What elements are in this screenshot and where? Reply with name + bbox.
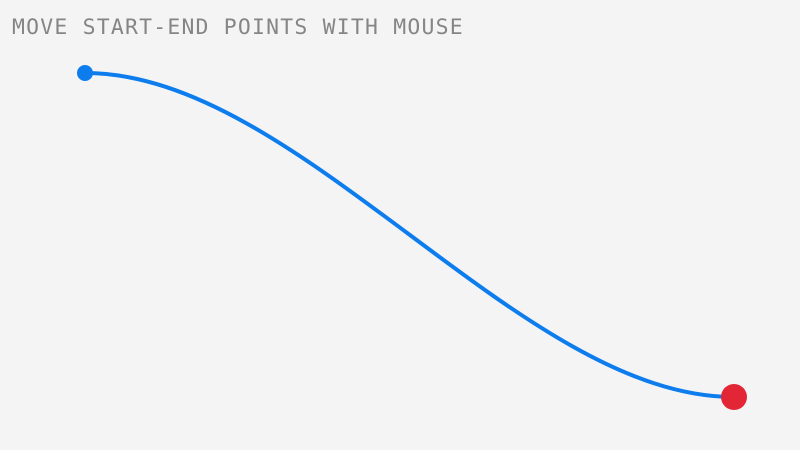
end-point-handle[interactable]	[721, 384, 747, 410]
start-point-handle[interactable]	[77, 65, 93, 81]
app-root: Move start-end points with mouse	[0, 0, 800, 450]
bezier-curve	[85, 73, 734, 397]
bezier-canvas[interactable]	[0, 0, 800, 450]
bezier-svg[interactable]	[0, 0, 800, 450]
